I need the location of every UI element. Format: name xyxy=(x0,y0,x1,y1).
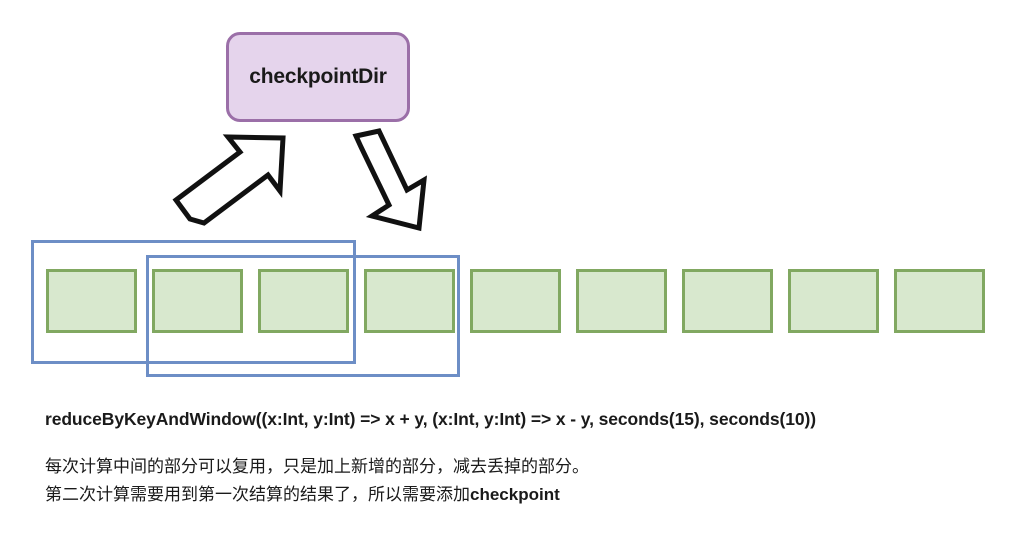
code-expression: reduceByKeyAndWindow((x:Int, y:Int) => x… xyxy=(45,409,816,430)
batch-box xyxy=(894,269,985,333)
window-rect-second xyxy=(146,255,460,377)
checkpoint-dir-node: checkpointDir xyxy=(226,32,410,122)
diagram-canvas: checkpointDir reduceByKeyAndWindow((x:In… xyxy=(0,0,1024,544)
batch-box xyxy=(682,269,773,333)
arrow-up-right-to-checkpoint-icon xyxy=(176,137,283,223)
checkpoint-dir-label: checkpointDir xyxy=(249,65,386,89)
batch-box xyxy=(470,269,561,333)
arrow-down-right-from-checkpoint-icon xyxy=(356,131,424,228)
batch-box xyxy=(576,269,667,333)
batch-box xyxy=(788,269,879,333)
caption-line-2-keyword: checkpoint xyxy=(470,485,560,504)
caption-line-2-text: 第二次计算需要用到第一次结算的结果了，所以需要添加 xyxy=(45,485,470,505)
batch-box xyxy=(46,269,137,333)
caption-line-2: 第二次计算需要用到第一次结算的结果了，所以需要添加checkpoint xyxy=(45,482,560,508)
caption-line-1: 每次计算中间的部分可以复用，只是加上新增的部分，减去丢掉的部分。 xyxy=(45,454,589,480)
